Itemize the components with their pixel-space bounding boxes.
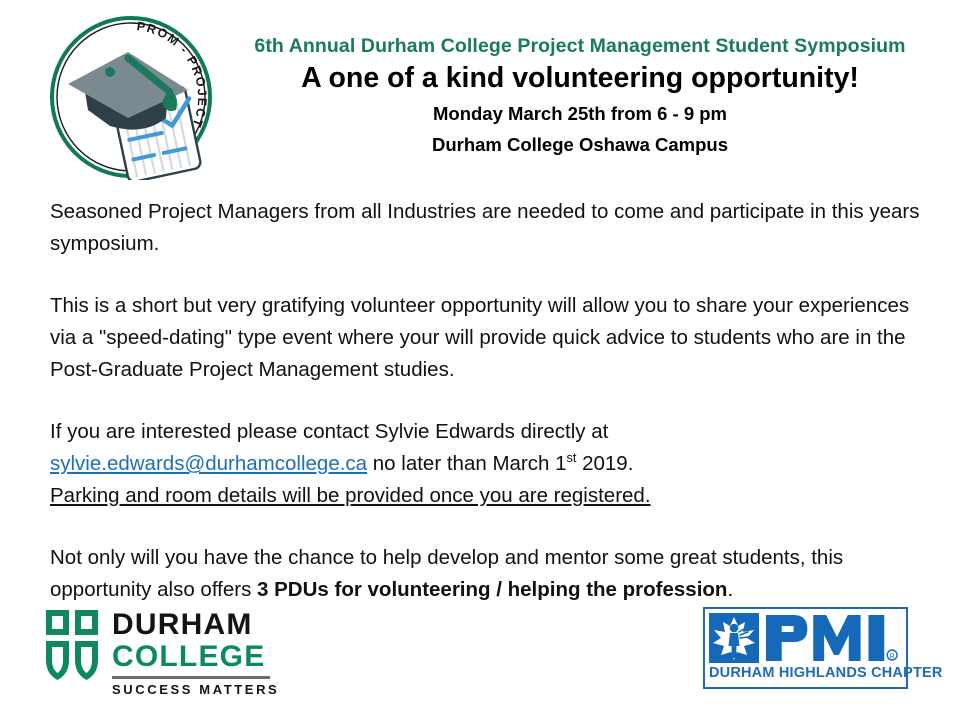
event-datetime: Monday March 25th from 6 - 9 pm xyxy=(230,101,930,128)
durham-tagline: SUCCESS MATTERS xyxy=(112,682,279,697)
deadline-year: 2019. xyxy=(576,452,633,475)
prom-project-management-seal: PROM - PROJECT MANAGEMENT xyxy=(48,14,214,180)
ordinal-suffix: st xyxy=(567,450,577,465)
flyer-header: PROM - PROJECT MANAGEMENT xyxy=(0,0,960,190)
paragraph-contact: If you are interested please contact Syl… xyxy=(50,416,930,512)
pmi-acronym: R xyxy=(764,613,902,663)
deadline-text: no later than March 1 xyxy=(367,452,566,475)
paragraph-intro: Seasoned Project Managers from all Indus… xyxy=(50,196,930,260)
benefits-tail-text: . xyxy=(727,578,733,601)
contact-email-link[interactable]: sylvie.edwards@durhamcollege.ca xyxy=(50,452,367,475)
durham-shield-icon xyxy=(44,608,100,682)
event-location: Durham College Oshawa Campus xyxy=(230,132,930,159)
pmi-chapter-name: DURHAM HIGHLANDS CHAPTER xyxy=(709,665,902,681)
durham-wordmark-bottom: COLLEGE xyxy=(112,641,279,673)
paragraph-benefits: Not only will you have the chance to hel… xyxy=(50,542,930,606)
pmi-maple-leaf-icon xyxy=(709,613,759,663)
durham-college-logo: DURHAM COLLEGE SUCCESS MATTERS xyxy=(44,608,279,697)
flyer-footer: DURHAM COLLEGE SUCCESS MATTERS xyxy=(0,600,960,720)
pmi-chapter-logo: R DURHAM HIGHLANDS CHAPTER xyxy=(703,607,908,689)
svg-text:R: R xyxy=(890,653,895,660)
durham-wordmark-top: DURHAM xyxy=(112,610,279,640)
durham-logo-divider xyxy=(112,676,270,679)
parking-note: Parking and room details will be provide… xyxy=(50,484,651,507)
contact-lead-text: If you are interested please contact Syl… xyxy=(50,420,608,443)
paragraph-description: This is a short but very gratifying volu… xyxy=(50,290,930,386)
pdu-highlight: 3 PDUs for volunteering / helping the pr… xyxy=(257,578,727,601)
page-title: A one of a kind volunteering opportunity… xyxy=(230,60,930,97)
event-series-line: 6th Annual Durham College Project Manage… xyxy=(230,34,930,58)
flyer-body: Seasoned Project Managers from all Indus… xyxy=(50,196,930,606)
pmi-logo-top-row: R xyxy=(709,613,902,663)
